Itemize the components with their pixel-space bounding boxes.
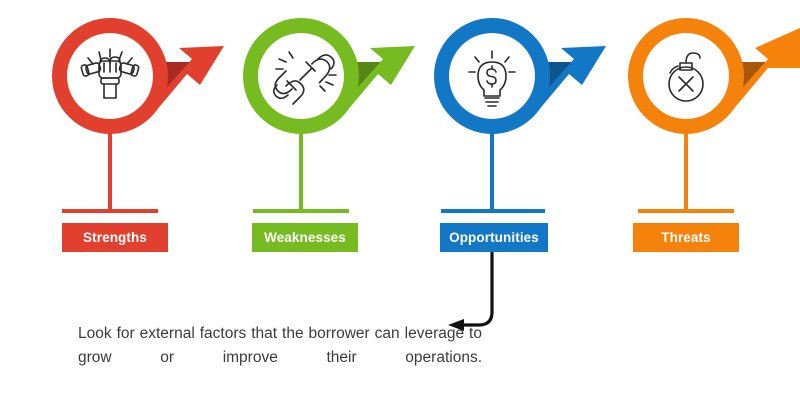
ring-fill-weaknesses [258,33,344,119]
ring-fill-strengths [67,33,153,119]
node-strengths[interactable] [60,26,160,212]
node-weaknesses[interactable] [251,26,351,212]
label-text-threats: Threats [661,230,710,245]
ring-fill-threats [643,33,729,119]
callout-caption: Look for external factors that the borro… [78,322,482,394]
label-text-strengths: Strengths [83,230,147,245]
label-box-threats[interactable]: Threats [633,223,739,252]
node-threats[interactable] [636,26,736,212]
node-opportunities[interactable] [441,26,545,212]
swot-diagram-canvas: Strengths Weaknesses Opportunities Threa… [0,0,800,400]
label-box-opportunities[interactable]: Opportunities [440,223,548,252]
label-box-weaknesses[interactable]: Weaknesses [252,223,358,252]
label-text-opportunities: Opportunities [449,230,539,245]
label-text-weaknesses: Weaknesses [264,230,346,245]
label-box-strengths[interactable]: Strengths [62,223,168,252]
callout-pointer [448,253,492,331]
